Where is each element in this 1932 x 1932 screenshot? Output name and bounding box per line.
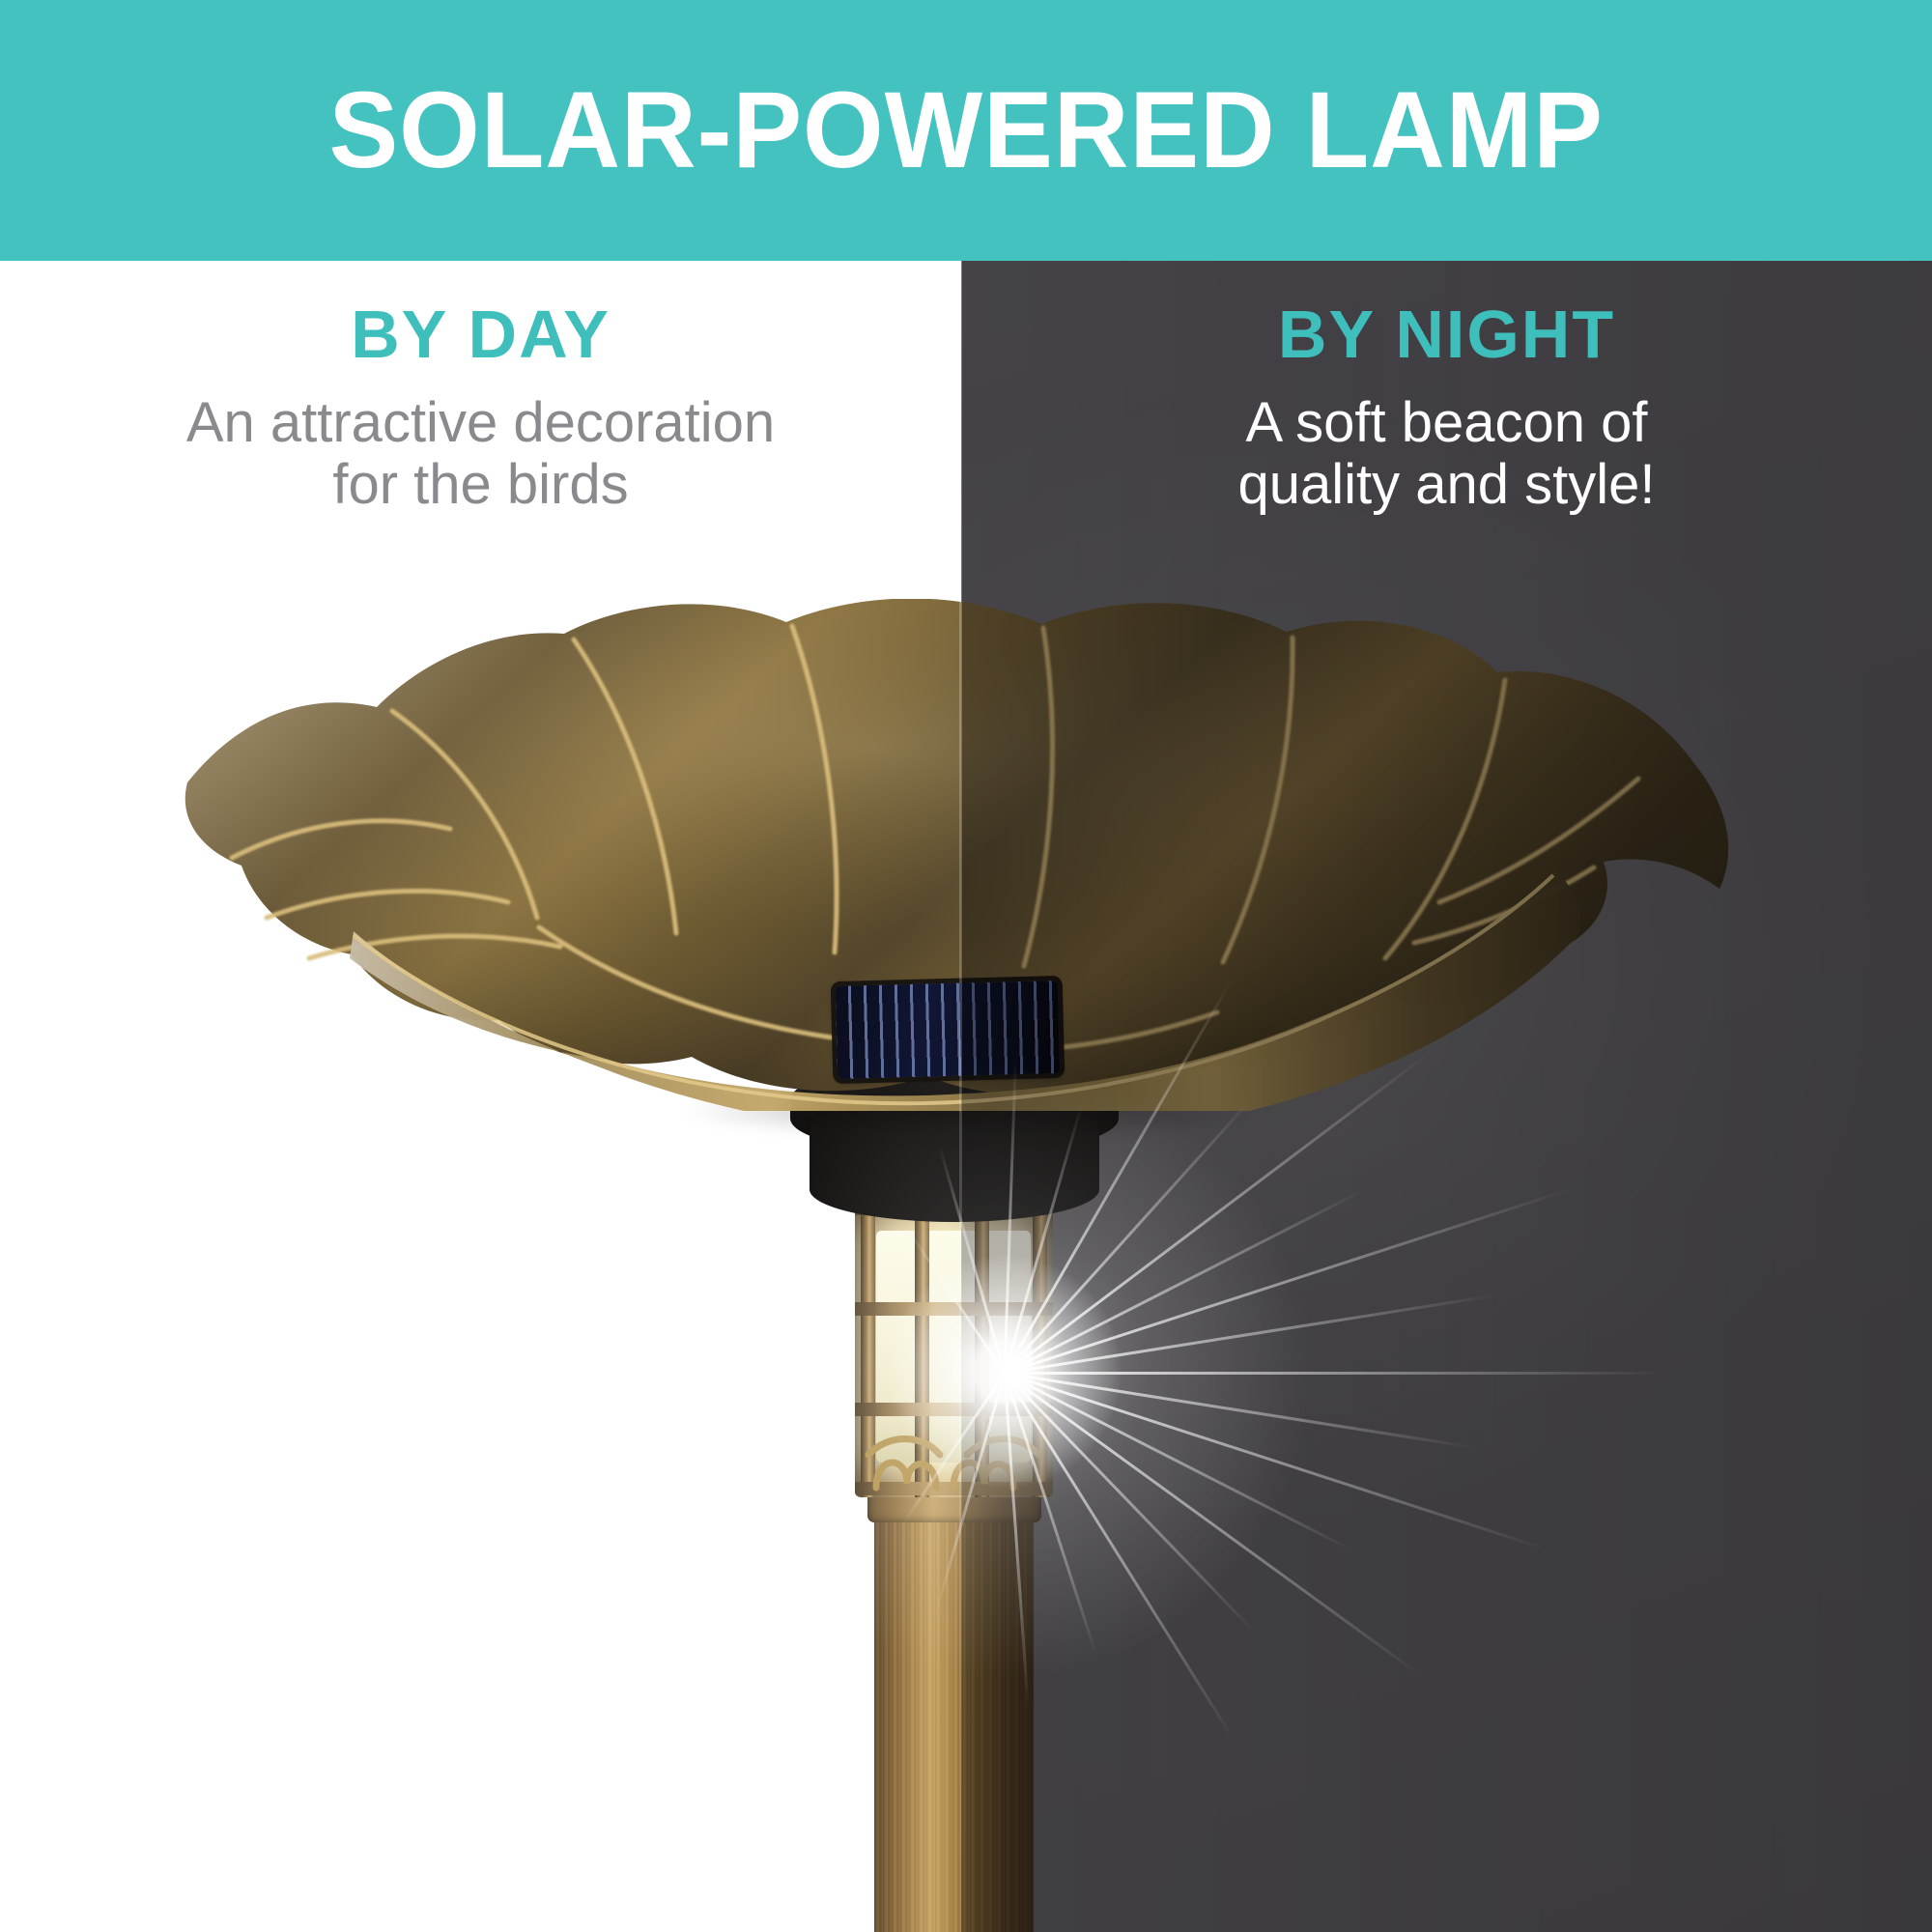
- infographic-page: SOLAR-POWERED LAMP: [0, 0, 1932, 1932]
- caption-night-text: A soft beacon of quality and style!: [961, 392, 1932, 518]
- page-title: SOLAR-POWERED LAMP: [328, 76, 1603, 185]
- caption-night-title: BY NIGHT: [961, 299, 1932, 371]
- caption-day-line-1: An attractive decoration: [0, 392, 961, 455]
- caption-day-line-2: for the birds: [0, 454, 961, 517]
- caption-night: BY NIGHT A soft beacon of quality and st…: [961, 299, 1932, 517]
- caption-day: BY DAY An attractive decoration for the …: [0, 299, 961, 517]
- caption-day-text: An attractive decoration for the birds: [0, 392, 961, 518]
- caption-night-line-1: A soft beacon of: [961, 392, 1932, 455]
- caption-night-line-2: quality and style!: [961, 454, 1932, 517]
- caption-day-title: BY DAY: [0, 299, 961, 371]
- header-banner: SOLAR-POWERED LAMP: [0, 0, 1932, 261]
